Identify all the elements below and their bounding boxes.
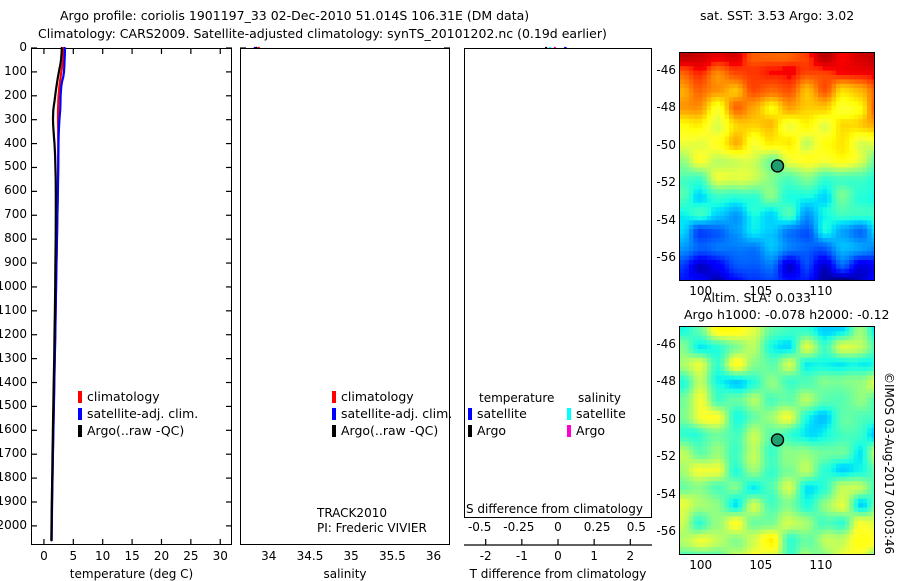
temperature-xtick-5: 5 [69, 549, 77, 563]
difference-xtick-S-2: 0 [554, 520, 562, 534]
difference-legend-header-left: temperature [479, 391, 554, 405]
legend-swatch-icon [468, 408, 472, 420]
legend-swatch-icon [567, 425, 571, 437]
salinity-legend-item: satellite-adj. clim. [332, 406, 452, 421]
sst-map-xtick-110: 110 [809, 284, 832, 298]
sst-map-ytick--54: -54 [656, 213, 676, 227]
depth-tick-1100: 1100 [0, 303, 27, 317]
legend-swatch-icon [78, 391, 82, 403]
depth-tick-1400: 1400 [0, 375, 27, 389]
difference-xtick-T-1: -1 [516, 549, 528, 563]
sla-map-xtick-110: 110 [809, 558, 832, 572]
legend-swatch-icon [78, 408, 82, 420]
temperature-legend-item: satellite-adj. clim. [78, 406, 198, 421]
depth-tick-1700: 1700 [0, 446, 27, 460]
temperature-legend-item: climatology [78, 389, 160, 404]
track-annotation: TRACK2010 [317, 506, 387, 520]
difference-temp-legend-label: satellite [477, 406, 527, 421]
difference-temp-legend-label: Argo [477, 423, 506, 438]
temperature-legend-label: Argo(..raw -QC) [87, 423, 184, 438]
salinity-xtick-34.5: 34.5 [297, 549, 324, 563]
temperature-xtick-25: 25 [183, 549, 198, 563]
difference-legend-header-right: salinity [578, 391, 621, 405]
sst-map-ytick--50: -50 [656, 138, 676, 152]
temperature-axis-label: temperature (deg C) [70, 567, 193, 581]
temperature-xtick-20: 20 [154, 549, 169, 563]
difference-temp-legend-item: Argo [468, 423, 506, 438]
temperature-xtick-10: 10 [95, 549, 110, 563]
depth-tick-100: 100 [4, 64, 27, 78]
depth-tick-300: 300 [4, 112, 27, 126]
temperature-xtick-15: 15 [124, 549, 139, 563]
sla-map-ytick--48: -48 [656, 374, 676, 388]
depth-tick-1500: 1500 [0, 398, 27, 412]
sst-map-ytick--52: -52 [656, 175, 676, 189]
difference-xtick-S-3: 0.25 [584, 520, 611, 534]
sla-map-xtick-100: 100 [689, 558, 712, 572]
axis-overlay: 0100200300400500600700800900100011001200… [0, 0, 900, 580]
temperature-xtick-30: 30 [213, 549, 228, 563]
sla-map-ytick--52: -52 [656, 449, 676, 463]
depth-tick-2000: 2000 [0, 518, 27, 532]
sla-map-xtick-105: 105 [749, 558, 772, 572]
temperature-legend-label: climatology [87, 389, 160, 404]
salinity-axis-label: salinity [323, 567, 366, 581]
salinity-legend-label: Argo(..raw -QC) [341, 423, 438, 438]
sla-map-ytick--54: -54 [656, 487, 676, 501]
salinity-xtick-34: 34 [261, 549, 276, 563]
depth-tick-1900: 1900 [0, 494, 27, 508]
depth-tick-800: 800 [4, 231, 27, 245]
legend-swatch-icon [567, 408, 571, 420]
legend-swatch-icon [332, 391, 336, 403]
depth-tick-1600: 1600 [0, 422, 27, 436]
difference-temp-legend-item: satellite [468, 406, 527, 421]
depth-tick-1300: 1300 [0, 351, 27, 365]
difference-sal-legend-label: satellite [576, 406, 626, 421]
depth-tick-200: 200 [4, 88, 27, 102]
difference-xtick-S-0: -0.5 [468, 520, 491, 534]
depth-tick-400: 400 [4, 136, 27, 150]
sst-map-ytick--46: -46 [656, 63, 676, 77]
salinity-legend-item: Argo(..raw -QC) [332, 423, 438, 438]
difference-xtick-S-1: -0.25 [503, 520, 534, 534]
legend-swatch-icon [332, 408, 336, 420]
difference-xtick-T-4: 2 [626, 549, 634, 563]
legend-swatch-icon [468, 425, 472, 437]
salinity-xtick-36: 36 [426, 549, 441, 563]
sla-map-ytick--46: -46 [656, 337, 676, 351]
temperature-legend-label: satellite-adj. clim. [87, 406, 198, 421]
difference-axis-label-bottom: T difference from climatology [470, 567, 647, 581]
legend-swatch-icon [332, 425, 336, 437]
difference-sal-legend-label: Argo [576, 423, 605, 438]
depth-tick-600: 600 [4, 183, 27, 197]
depth-tick-500: 500 [4, 159, 27, 173]
salinity-xtick-35: 35 [344, 549, 359, 563]
salinity-xtick-35.5: 35.5 [379, 549, 406, 563]
difference-xtick-S-4: 0.5 [627, 520, 646, 534]
difference-sal-legend-item: satellite [567, 406, 626, 421]
sst-map-xtick-105: 105 [749, 284, 772, 298]
legend-swatch-icon [78, 425, 82, 437]
depth-tick-1000: 1000 [0, 279, 27, 293]
sst-map-xtick-100: 100 [689, 284, 712, 298]
depth-tick-0: 0 [19, 40, 27, 54]
difference-xtick-T-3: 1 [590, 549, 598, 563]
pi-annotation: PI: Frederic VIVIER [317, 521, 427, 535]
difference-xtick-T-0: -2 [480, 549, 492, 563]
depth-tick-1800: 1800 [0, 470, 27, 484]
sst-map-ytick--48: -48 [656, 100, 676, 114]
difference-sal-legend-item: Argo [567, 423, 605, 438]
sla-map-ytick--50: -50 [656, 412, 676, 426]
salinity-legend-item: climatology [332, 389, 414, 404]
sla-map-ytick--56: -56 [656, 524, 676, 538]
temperature-xtick-0: 0 [40, 549, 48, 563]
temperature-legend-item: Argo(..raw -QC) [78, 423, 184, 438]
difference-xtick-T-2: 0 [554, 549, 562, 563]
depth-tick-700: 700 [4, 207, 27, 221]
salinity-legend-label: climatology [341, 389, 414, 404]
difference-axis-label-top: S difference from climatology [466, 502, 643, 516]
sst-map-ytick--56: -56 [656, 250, 676, 264]
depth-tick-900: 900 [4, 255, 27, 269]
depth-tick-1200: 1200 [0, 327, 27, 341]
salinity-legend-label: satellite-adj. clim. [341, 406, 452, 421]
